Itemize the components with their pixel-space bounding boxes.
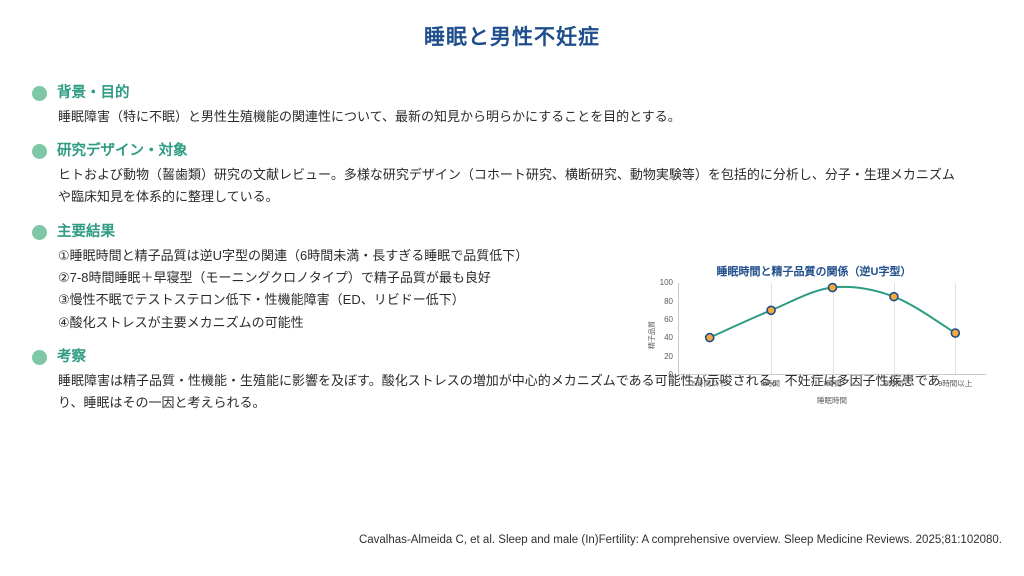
bullet-dot-icon <box>32 144 47 159</box>
chart-y-tick-label: 60 <box>664 316 673 324</box>
result-line: ④酸化ストレスが主要メカニズムの可能性 <box>58 312 658 334</box>
section-header-design: 研究デザイン・対象 <box>32 142 992 161</box>
chart-y-tick-label: 80 <box>664 298 673 306</box>
chart-data-point <box>767 306 775 314</box>
chart-x-tick-label: 9時間以上 <box>938 378 972 389</box>
section-design: 研究デザイン・対象 ヒトおよび動物（齧歯類）研究の文献レビュー。多様な研究デザイ… <box>32 142 992 209</box>
chart-title: 睡眠時間と精子品質の関係（逆U字型） <box>636 266 992 279</box>
section-header-background: 背景・目的 <box>32 84 992 103</box>
bullet-dot-icon <box>32 350 47 365</box>
section-title-results: 主要結果 <box>57 223 115 242</box>
section-title-discussion: 考察 <box>57 348 86 367</box>
chart-data-point <box>706 334 714 342</box>
bullet-dot-icon <box>32 225 47 240</box>
chart-data-point <box>829 284 837 292</box>
section-background: 背景・目的 睡眠障害（特に不眠）と男性生殖機能の関連性について、最新の知見から明… <box>32 84 992 128</box>
chart-x-tick-label: 5時間以下 <box>692 378 726 389</box>
chart-plot-area: 精子品質 020406080100 5時間以下6時間7時間8時間9時間以上 睡眠… <box>636 283 992 387</box>
chart-data-point <box>890 293 898 301</box>
section-title-background: 背景・目的 <box>57 84 130 103</box>
section-body-results: ①睡眠時間と精子品質は逆U字型の関連（6時間未満・長すぎる睡眠で品質低下） ②7… <box>58 245 658 334</box>
chart-x-tick-label: 7時間 <box>822 378 841 389</box>
chart-markers <box>679 283 986 374</box>
chart-y-tick-label: 0 <box>669 371 673 379</box>
chart-data-point <box>951 329 959 337</box>
section-title-design: 研究デザイン・対象 <box>57 142 188 161</box>
section-body-design: ヒトおよび動物（齧歯類）研究の文献レビュー。多様な研究デザイン（コホート研究、横… <box>58 164 963 209</box>
chart-plot <box>678 283 986 375</box>
section-header-results: 主要結果 <box>32 223 992 242</box>
chart-y-tick-label: 20 <box>664 353 673 361</box>
chart-y-tick-label: 40 <box>664 334 673 342</box>
chart-y-tick-label: 100 <box>660 279 673 287</box>
bullet-dot-icon <box>32 86 47 101</box>
result-line: ②7-8時間睡眠＋早寝型（モーニングクロノタイプ）で精子品質が最も良好 <box>58 267 658 289</box>
result-line: ③慢性不眠でテストステロン低下・性機能障害（ED、リビドー低下） <box>58 289 658 311</box>
page-title: 睡眠と男性不妊症 <box>0 0 1024 50</box>
chart-x-tick-label: 6時間 <box>761 378 780 389</box>
chart-x-ticks: 5時間以下6時間7時間8時間9時間以上 <box>678 378 986 392</box>
citation-text: Cavalhas-Almeida C, et al. Sleep and mal… <box>0 533 1002 548</box>
sleep-sperm-quality-chart: 睡眠時間と精子品質の関係（逆U字型） 精子品質 020406080100 5時間… <box>636 266 992 416</box>
chart-y-ticks: 020406080100 <box>650 283 676 375</box>
section-body-background: 睡眠障害（特に不眠）と男性生殖機能の関連性について、最新の知見から明らかにするこ… <box>58 106 963 128</box>
chart-x-axis-label: 睡眠時間 <box>678 395 986 406</box>
result-line: ①睡眠時間と精子品質は逆U字型の関連（6時間未満・長すぎる睡眠で品質低下） <box>58 245 658 267</box>
chart-x-tick-label: 8時間 <box>884 378 903 389</box>
